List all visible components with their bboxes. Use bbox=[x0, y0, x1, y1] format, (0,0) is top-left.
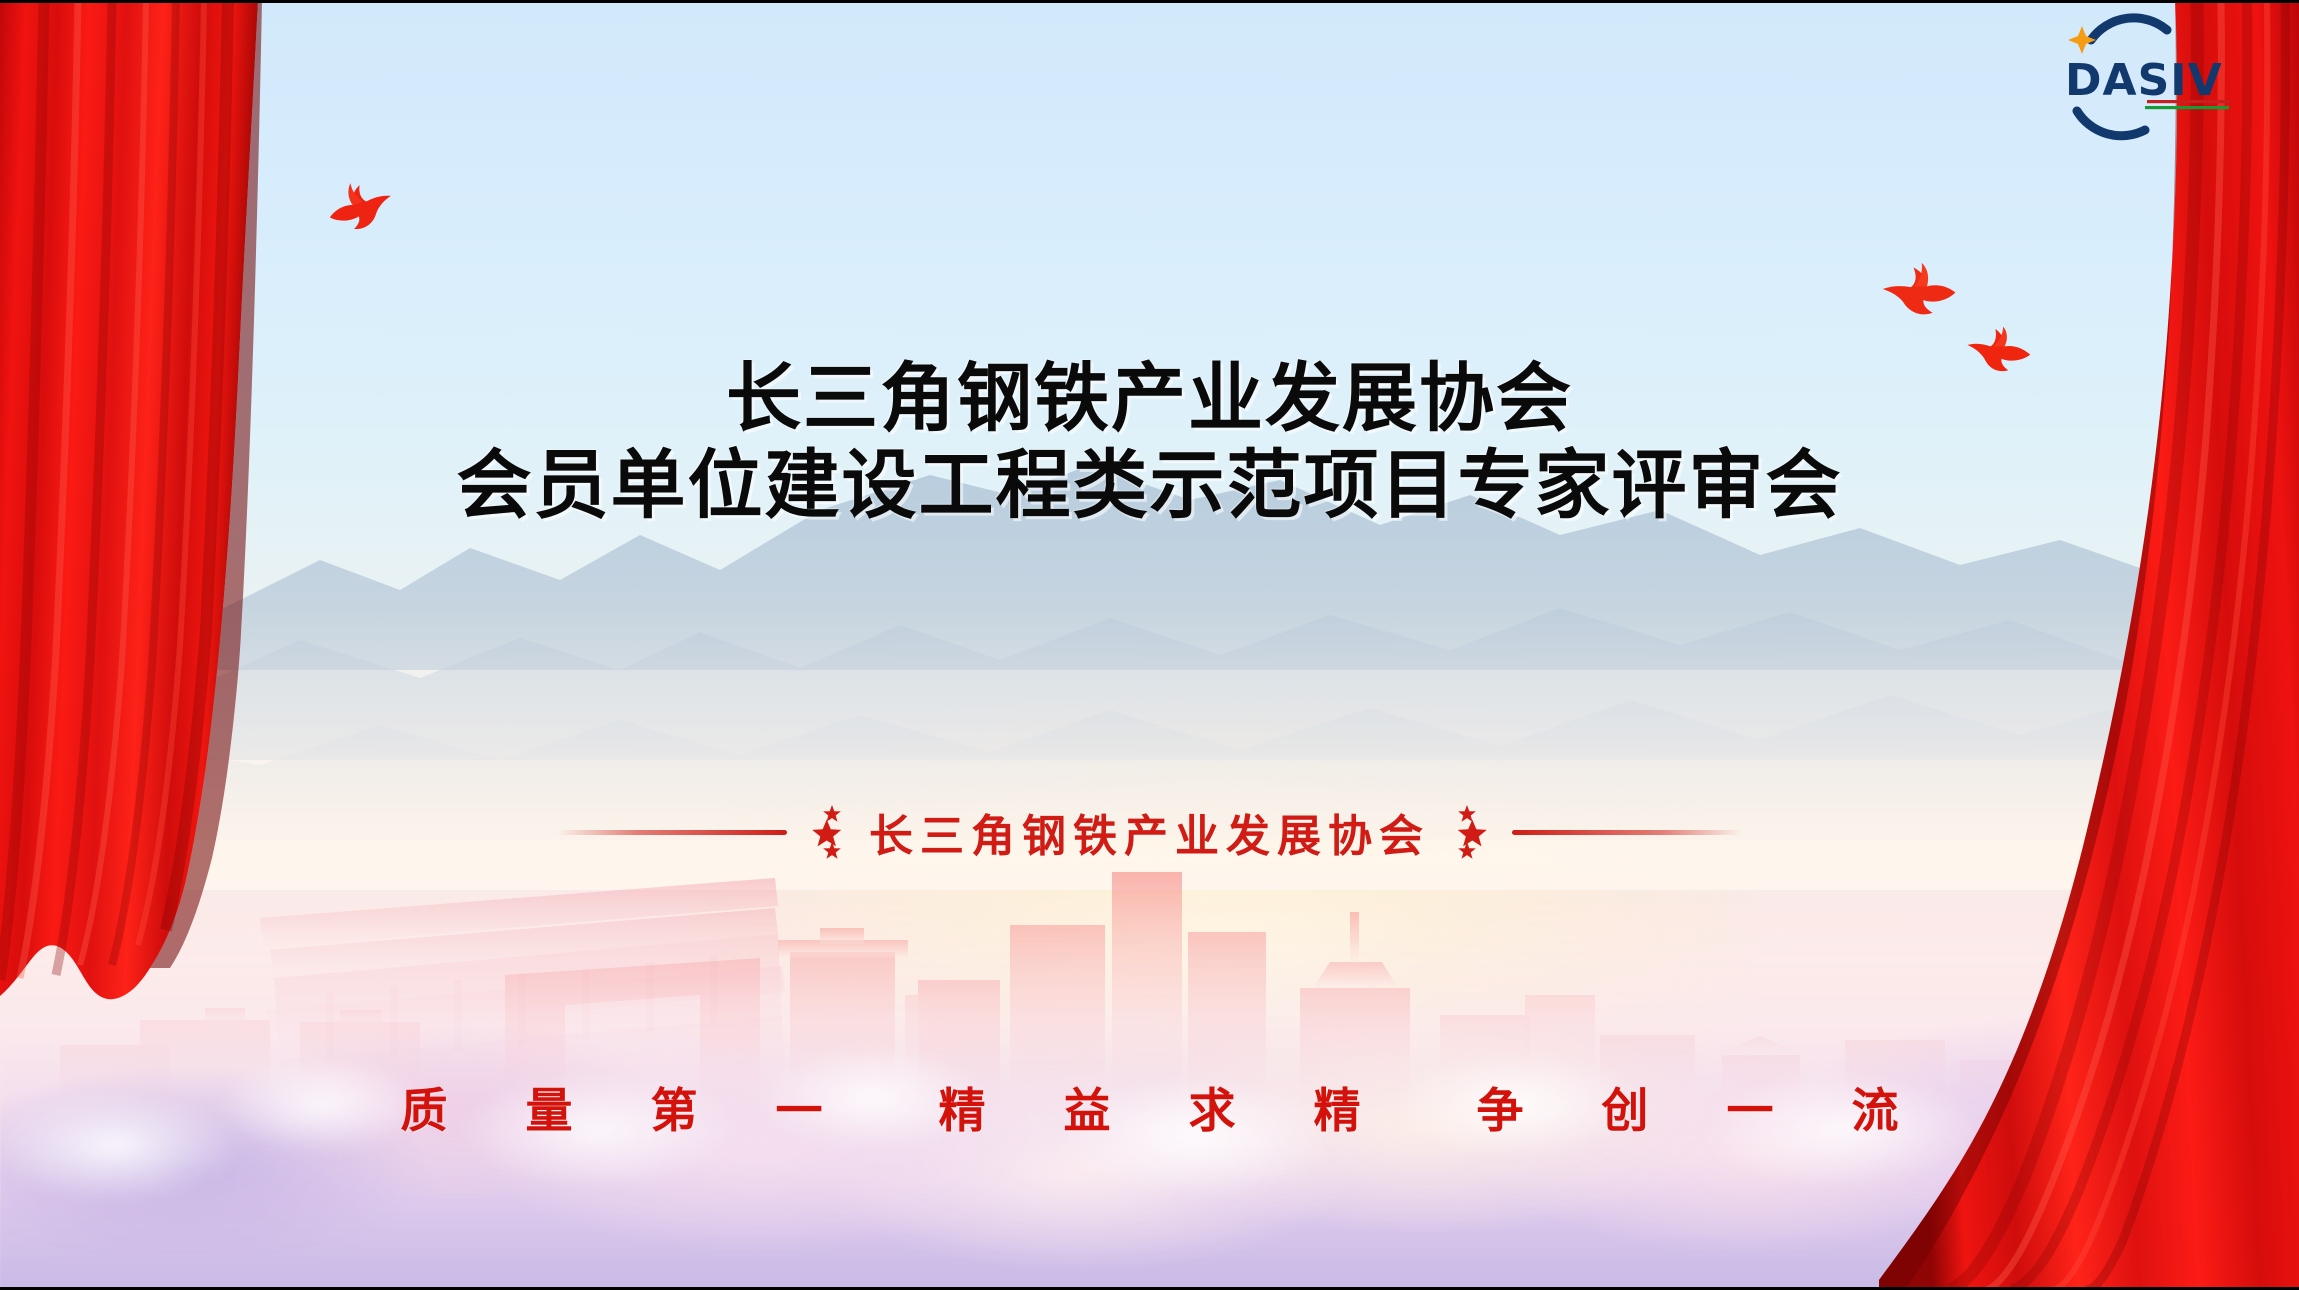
slogan-row: 质 量 第 一 精 益 求 精 争 创 一 流 bbox=[0, 1088, 2299, 1135]
arc-top-icon bbox=[2091, 18, 2167, 40]
slogan-char: 质 bbox=[401, 1088, 448, 1135]
title-line-2: 会员单位建设工程类示范项目专家评审会 bbox=[0, 442, 2299, 529]
logo-wordmark: DASIV bbox=[2065, 55, 2223, 106]
slogan-char: 精 bbox=[939, 1088, 986, 1135]
slogan-group-1: 质 量 第 一 bbox=[343, 1088, 881, 1135]
dove-icon bbox=[323, 176, 400, 239]
slogan-char: 一 bbox=[1727, 1088, 1774, 1135]
star-cluster-icon bbox=[805, 803, 851, 861]
title-line-1: 长三角钢铁产业发展协会 bbox=[0, 355, 2299, 442]
slogan-char: 求 bbox=[1189, 1088, 1236, 1135]
slogan-char: 争 bbox=[1477, 1088, 1524, 1135]
slogan-group-2: 精 益 求 精 bbox=[881, 1088, 1419, 1135]
logo-bar-green bbox=[2145, 106, 2229, 109]
four-point-star-icon bbox=[2068, 26, 2096, 54]
logo-bar-red bbox=[2147, 100, 2231, 103]
banner-rule-left bbox=[557, 830, 787, 835]
slogan-char: 益 bbox=[1064, 1088, 1111, 1135]
poster-canvas: DASIV 长三角钢铁产业发展协会 会员单位建设工程类示范项目专家评审会 长三角… bbox=[0, 0, 2299, 1290]
page-title: 长三角钢铁产业发展协会 会员单位建设工程类示范项目专家评审会 bbox=[0, 355, 2299, 529]
slogan-char: 流 bbox=[1852, 1088, 1899, 1135]
star-cluster-icon bbox=[1448, 803, 1494, 861]
slogan-char: 创 bbox=[1602, 1088, 1649, 1135]
arc-bottom-icon bbox=[2077, 111, 2145, 136]
subtitle-banner: 长三角钢铁产业发展协会 bbox=[0, 800, 2299, 864]
dasiv-logo[interactable]: DASIV bbox=[2017, 12, 2247, 142]
slogan-char: 精 bbox=[1314, 1088, 1361, 1135]
slogan-char: 量 bbox=[526, 1088, 573, 1135]
slogan-char: 第 bbox=[651, 1088, 698, 1135]
slogan-group-3: 争 创 一 流 bbox=[1419, 1088, 1957, 1135]
banner-text: 长三角钢铁产业发展协会 bbox=[869, 800, 1430, 864]
slogan-char: 一 bbox=[776, 1088, 823, 1135]
banner-rule-right bbox=[1512, 830, 1742, 835]
